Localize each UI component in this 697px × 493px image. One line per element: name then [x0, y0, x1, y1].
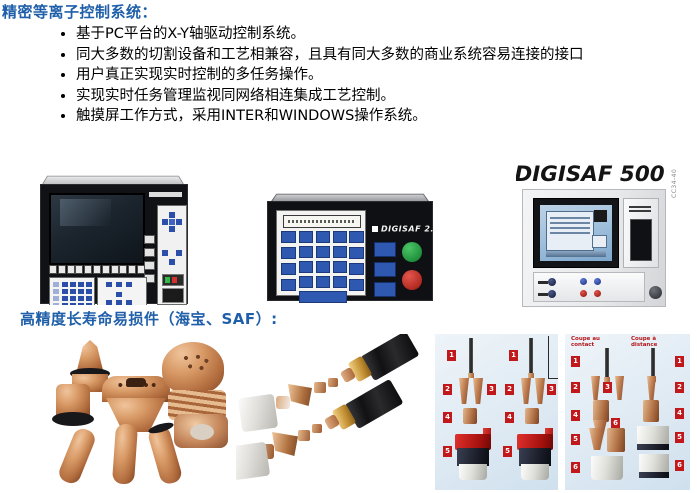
product-image-diagram-2: Coupe au contact Coupe à distance 1 2 3 … [565, 334, 690, 490]
diagram-tag: 5 [443, 446, 452, 457]
diagram-nozzle [591, 376, 600, 400]
list-item-text: 用户真正实现实时控制的多任务操作。 [76, 67, 323, 83]
diagram-electrode [529, 338, 533, 374]
torch-shield-cup-lower [236, 442, 270, 481]
list-item-text: 基于PC平台的X-Y轴驱动控制系统。 [76, 26, 305, 42]
diagram-tag: 2 [675, 382, 684, 393]
diagram-tag: 2 [443, 384, 452, 395]
copper-dome-vents [180, 354, 210, 374]
controller-1-knob [162, 288, 184, 303]
controller-2-keypad-panel [276, 210, 366, 296]
copper-flange-bore [190, 424, 214, 440]
bullet-icon [61, 94, 65, 98]
list-item: 实现实时任务管理监视同网络相连集成工艺控制。 [58, 86, 694, 107]
controller-1-aux-keys [162, 250, 182, 268]
diagram-shield-cup [459, 464, 487, 480]
torch-electrode-lower [298, 430, 310, 441]
copper-electrode-pin [112, 423, 138, 484]
controller-3-indicator-red [580, 290, 587, 297]
diagram-tag: 6 [675, 460, 684, 471]
diagram-nozzle [459, 378, 469, 404]
bullet-icon [61, 73, 65, 77]
diagram-tag: 1 [675, 356, 684, 367]
bullet-icon [61, 53, 65, 57]
copper-nozzle [72, 340, 108, 370]
controller-2-logo-icon [372, 226, 378, 232]
product-image-diagram-1: 1 2 3 4 5 1 2 3 4 5 [435, 334, 558, 490]
controller-2-start-button [402, 242, 422, 262]
controller-1-brand-label [149, 192, 182, 197]
copper-electrode-pin [56, 426, 97, 486]
diagram-caption-contact: Coupe au contact [571, 336, 619, 348]
controller-1-navigation-keys [97, 277, 147, 305]
product-image-copper-parts [14, 332, 232, 490]
diagram-swirl-ring [463, 408, 477, 424]
list-item: 同大多数的切割设备和工艺相兼容，且具有同大多数的商业系统容易连接的接口 [58, 45, 694, 66]
diagram-nozzle [473, 378, 483, 404]
controller-3-screen-block [594, 210, 607, 222]
controller-1-function-key-row [49, 265, 145, 273]
list-item: 用户真正实现实时控制的多任务操作。 [58, 65, 694, 86]
page-title-plasma-control: 精密等离子控制系统： [2, 1, 157, 22]
diagram-electrode [651, 348, 655, 378]
controller-3-lead [538, 293, 548, 296]
diagram-nozzle [521, 378, 531, 404]
diagram-tag: 1 [447, 350, 456, 361]
diagram-shield-body [637, 444, 669, 450]
diagram-swirl-ring [525, 408, 539, 424]
controller-3-jack [548, 290, 556, 298]
controller-3-lead [538, 281, 548, 284]
diagram-tag: 2 [505, 384, 514, 395]
diagram-tag: 5 [503, 446, 512, 457]
controller-3-indicator-red [594, 290, 601, 297]
diagram-bracket [548, 336, 558, 379]
controller-3-jack [548, 278, 556, 286]
diagram-tag: 3 [487, 384, 496, 395]
controller-3-screen-statusbar [546, 251, 606, 257]
diagram-tag: 2 [571, 382, 580, 393]
diagram-nozzle [535, 378, 545, 404]
controller-2-right-keys [349, 231, 364, 295]
diagram-shield-base [639, 472, 669, 478]
controller-3-cabinet [522, 189, 666, 307]
diagram-tag: 6 [571, 462, 580, 473]
controller-2-left-keys [281, 231, 296, 295]
torch-nozzle-upper [288, 384, 312, 406]
controller-2-brand-label: DIGISAF 2.5+ [372, 224, 435, 234]
copper-oring [52, 412, 94, 426]
diagram-swirl-ring [643, 400, 659, 422]
torch-small-part-upper [328, 378, 338, 387]
controller-3-connector-panel [533, 272, 645, 302]
product-image-torch-assembly [236, 334, 426, 490]
feature-list: 基于PC平台的X-Y轴驱动控制系统。 同大多数的切割设备和工艺相兼容，且具有同大… [58, 24, 694, 127]
diagram-tag: 5 [675, 432, 684, 443]
controller-3-screen [540, 205, 612, 261]
diagram-electrode [469, 338, 473, 374]
controller-1-jog-pad [157, 205, 187, 305]
diagram-caption-distance: Coupe à distance [631, 336, 679, 348]
torch-shield-cup-upper [238, 394, 278, 433]
diagram-nozzle [647, 376, 656, 400]
controller-3-indicator-blue [580, 278, 587, 285]
controller-3-drive-tower [623, 198, 659, 268]
controller-2-body: DIGISAF 2.5+ [267, 201, 433, 301]
diagram-swirl-ring [593, 400, 609, 422]
diagram-electrode [605, 348, 609, 378]
diagram-tag: 4 [443, 412, 452, 423]
controller-1-status-leds [162, 274, 184, 286]
diagram-shield-cup [521, 464, 549, 480]
controller-1-body [40, 184, 188, 304]
controller-3-screen-window [546, 211, 594, 251]
torch-nozzle-lower [272, 432, 298, 456]
torch-electrode-upper [314, 382, 326, 393]
controller-1-dpad-icon [162, 212, 182, 246]
copper-shield-bore [126, 378, 146, 387]
controller-1-numeric-keypad [49, 277, 95, 305]
controller-3-tower-logo-icon [629, 204, 651, 212]
torch-small-part-lower [312, 424, 322, 433]
product-image-controller-3: DIGISAF 500 CC34-40 [516, 162, 676, 307]
diagram-tag: 1 [509, 350, 518, 361]
controller-3-drive-slot [630, 219, 652, 261]
controller-2-lcd-display [283, 215, 361, 228]
diagram-tag: 4 [571, 410, 580, 421]
controller-3-screen-button [592, 235, 607, 248]
diagram-tag: 5 [571, 434, 580, 445]
list-item: 基于PC平台的X-Y轴驱动控制系统。 [58, 24, 694, 45]
diagram-tag: 4 [505, 412, 514, 423]
diagram-cap [589, 428, 605, 450]
controller-2-mode-keys [374, 242, 396, 302]
diagram-tag: 4 [675, 408, 684, 419]
controller-1-display-screen [49, 193, 145, 265]
diagram-shield-cup [591, 456, 623, 480]
controller-3-title: DIGISAF 500 [516, 162, 665, 186]
controller-3-indicator-blue [594, 278, 601, 285]
diagram-nozzle [615, 376, 624, 400]
controller-3-side-code: CC34-40 [671, 169, 676, 198]
bullet-icon [61, 32, 65, 36]
list-item: 触摸屏工作方式，采用INTER和WINDOWS操作系统。 [58, 106, 694, 127]
controller-2-brand-text: DIGISAF 2.5 [381, 225, 435, 234]
bullet-icon [61, 114, 65, 118]
diagram-cap-alt [607, 428, 625, 452]
controller-2-stop-button [402, 270, 422, 290]
product-image-controller-2: DIGISAF 2.5+ CC35-63 [265, 190, 435, 305]
controller-3-power-knob [649, 286, 662, 299]
page-title-consumables: 高精度长寿命易损件（海宝、SAF）: [20, 308, 278, 329]
list-item-text: 触摸屏工作方式，采用INTER和WINDOWS操作系统。 [76, 108, 427, 124]
diagram-tag: 3 [547, 384, 556, 395]
torch-retaining-ring-upper [276, 396, 290, 409]
product-image-controller-1: CC31-08 [38, 170, 188, 305]
controller-2-numeric-keypad [299, 231, 347, 303]
diagram-tag: 1 [571, 356, 580, 367]
list-item-text: 同大多数的切割设备和工艺相兼容，且具有同大多数的商业系统容易连接的接口 [76, 47, 584, 63]
list-item-text: 实现实时任务管理监视同网络相连集成工艺控制。 [76, 88, 395, 104]
diagram-tag: 3 [603, 382, 612, 393]
controller-3-monitor-bezel [533, 198, 619, 268]
